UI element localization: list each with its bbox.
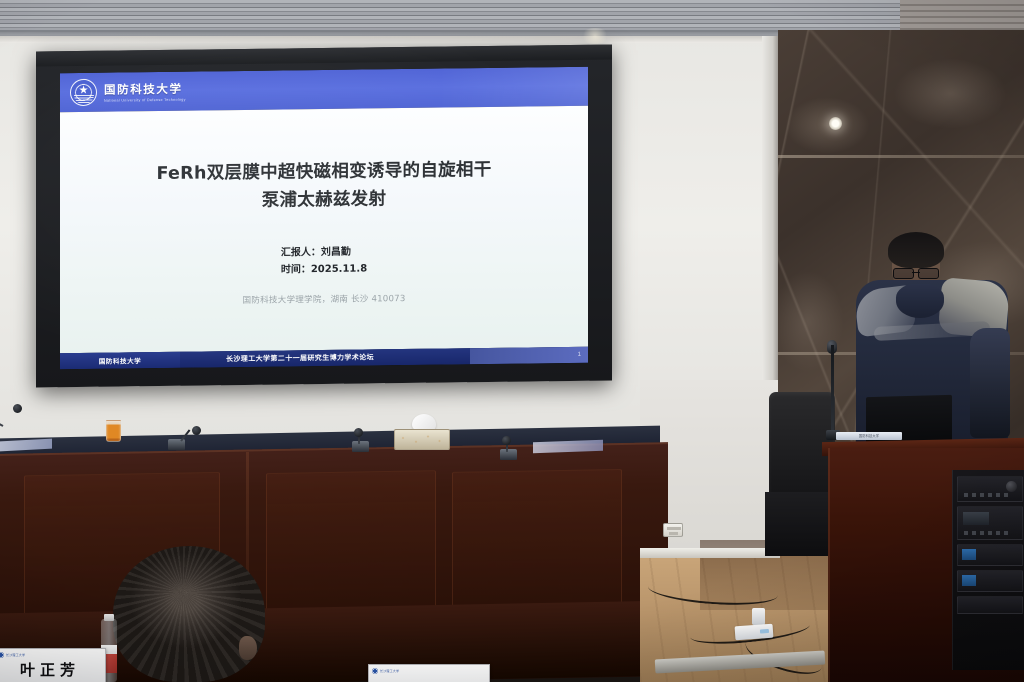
rack-buttons-icon xyxy=(964,531,1008,535)
table-microphone xyxy=(2,404,24,428)
slide-presenter-block: 汇报人：刘昌勤 时间：2025.11.8 xyxy=(281,243,367,278)
attendee-ear xyxy=(239,636,257,660)
projector-hotspot xyxy=(580,28,610,44)
tea-glass xyxy=(106,420,121,442)
seated-attendee xyxy=(113,546,265,682)
microphone-head-icon xyxy=(13,404,22,413)
presenter-hair xyxy=(888,232,944,268)
microphone-head-icon xyxy=(354,428,363,437)
footer-forum-name: 长沙理工大学第二十一届研究生博力学术论坛 xyxy=(226,352,374,364)
rack-unit-mixer xyxy=(957,476,1023,502)
podium-plate-text: 国防科技大学 xyxy=(836,432,902,440)
table-microphone xyxy=(352,426,378,452)
slide-body: FeRh双层膜中超快磁相变诱导的自旋相干 泵浦太赫兹发射 汇报人：刘昌勤 时间：… xyxy=(60,106,588,353)
screen-display-area: ★ 国防科技大学 National University of Defense … xyxy=(60,67,588,369)
name-placard-left: 长沙理工大学 叶正芳 xyxy=(0,648,106,682)
placard-emblem-icon xyxy=(372,668,378,674)
slide-affiliation: 国防科技大学理学院，湖南 长沙 410073 xyxy=(243,292,406,306)
tissue-box xyxy=(394,429,450,450)
footer-left-block: 国防科技大学 xyxy=(60,352,180,369)
microphone-base xyxy=(352,441,369,452)
rack-status-led-icon xyxy=(962,549,976,560)
baseboard-trim xyxy=(640,548,780,558)
marble-tile-seam xyxy=(778,155,1024,158)
tissue-box-pattern xyxy=(397,432,447,447)
emblem-arcs-icon xyxy=(74,94,94,103)
placard-org-text: 长沙理工大学 xyxy=(6,653,25,657)
presenter-jacket-collar xyxy=(896,284,944,318)
presenter-name: 汇报人：刘昌勤 xyxy=(281,243,367,261)
glasses-bridge xyxy=(912,272,920,273)
table-microphone xyxy=(168,418,208,450)
placard-emblem-icon xyxy=(0,652,4,658)
rack-display-screen xyxy=(963,512,989,525)
bottle-cap xyxy=(104,614,114,621)
slide-page-number: 1 xyxy=(578,352,581,358)
slide-title-line2: 泵浦太赫兹发射 xyxy=(156,184,491,216)
rack-buttons-icon xyxy=(964,493,1008,497)
slide-title-line1: FeRh双层膜中超快磁相变诱导的自旋相干 xyxy=(156,156,491,188)
name-placard-right: 长沙理工大学 xyxy=(368,664,490,682)
presenter-arm xyxy=(970,328,1010,438)
rack-unit-blank xyxy=(957,596,1023,614)
power-plug xyxy=(752,608,765,625)
av-equipment-rack xyxy=(952,470,1024,670)
footer-center-block: 长沙理工大学第二十一届研究生博力学术论坛 xyxy=(180,348,470,368)
footer-right-block: 1 xyxy=(470,347,588,364)
rack-status-led-icon xyxy=(962,575,976,586)
footer-university-name: 国防科技大学 xyxy=(99,355,142,366)
wall-power-outlet xyxy=(663,523,683,537)
presenter-glasses-icon xyxy=(892,268,940,277)
podium-name-plate: 国防科技大学 xyxy=(836,432,902,440)
university-emblem-icon: ★ xyxy=(70,79,97,106)
placard-logo-row: 长沙理工大学 xyxy=(369,665,489,674)
power-strip-led-icon xyxy=(760,629,769,634)
microphone-base xyxy=(500,449,517,460)
placard-name-text: 叶正芳 xyxy=(0,658,105,680)
projection-screen: ★ 国防科技大学 National University of Defense … xyxy=(36,44,612,387)
wall-cornice xyxy=(0,36,775,43)
power-strip xyxy=(735,624,774,641)
table-microphone xyxy=(500,434,526,460)
placard-name-text xyxy=(369,674,489,676)
slide-title: FeRh双层膜中超快磁相变诱导的自旋相干 泵浦太赫兹发射 xyxy=(156,156,491,216)
conference-room-photo: ★ 国防科技大学 National University of Defense … xyxy=(0,0,1024,682)
university-name-en: National University of Defense Technolog… xyxy=(104,98,186,103)
wall-light-reflection xyxy=(829,117,842,130)
university-logo-text: 国防科技大学 National University of Defense Te… xyxy=(104,80,186,102)
podium-microphone-stem xyxy=(831,345,834,433)
rack-unit-display xyxy=(957,506,1023,540)
microphone-stem xyxy=(180,429,190,441)
microphone-head-icon xyxy=(192,426,201,435)
slide-header-bar: ★ 国防科技大学 National University of Defense … xyxy=(60,67,588,112)
rack-unit-amplifier xyxy=(957,544,1023,566)
microphone-head-icon xyxy=(502,436,511,445)
presentation-slide: ★ 国防科技大学 National University of Defense … xyxy=(60,67,588,369)
placard-org-text: 长沙理工大学 xyxy=(380,669,399,673)
rack-knob-icon xyxy=(1006,481,1017,492)
placard-logo-row: 长沙理工大学 xyxy=(0,649,105,658)
university-name-cn: 国防科技大学 xyxy=(104,80,186,97)
presentation-date: 时间：2025.11.8 xyxy=(281,260,367,278)
rack-unit-amplifier xyxy=(957,570,1023,592)
